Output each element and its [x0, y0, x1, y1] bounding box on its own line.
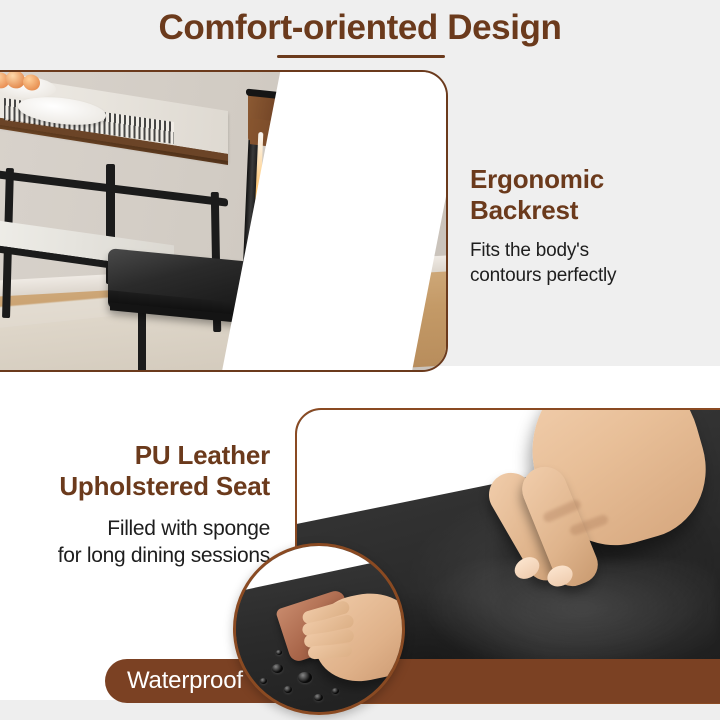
badge-label: Waterproof [127, 667, 243, 695]
water-droplet [314, 694, 323, 701]
pu-leather-copy: PU Leather Upholstered Seat Filled with … [0, 440, 270, 569]
water-droplet [260, 678, 267, 684]
page-title: Comfort-oriented Design [0, 8, 720, 48]
dining-set-photo [0, 70, 448, 372]
pu-body-line1: Filled with sponge [0, 516, 270, 542]
ergonomic-heading-line1: Ergonomic [470, 164, 715, 195]
water-droplet [284, 686, 292, 693]
pu-heading-line2: Upholstered Seat [0, 471, 270, 502]
water-droplet [332, 688, 339, 694]
pu-body-line2: for long dining sessions [0, 543, 270, 569]
water-droplet [272, 664, 283, 673]
title-underline [277, 55, 445, 58]
ergonomic-backrest-copy: Ergonomic Backrest Fits the body's conto… [470, 164, 715, 289]
infographic-stage: Comfort-oriented Design [0, 0, 720, 720]
ergonomic-body-line2: contours perfectly [470, 264, 715, 289]
waterproof-inset-photo [233, 543, 405, 715]
ergonomic-body-line1: Fits the body's [470, 239, 715, 264]
peach-icon [23, 74, 40, 91]
water-droplet [276, 650, 282, 655]
water-droplet [254, 694, 260, 699]
pu-heading-line1: PU Leather [0, 440, 270, 471]
water-droplet [298, 672, 312, 683]
ergonomic-heading-line2: Backrest [470, 195, 715, 226]
